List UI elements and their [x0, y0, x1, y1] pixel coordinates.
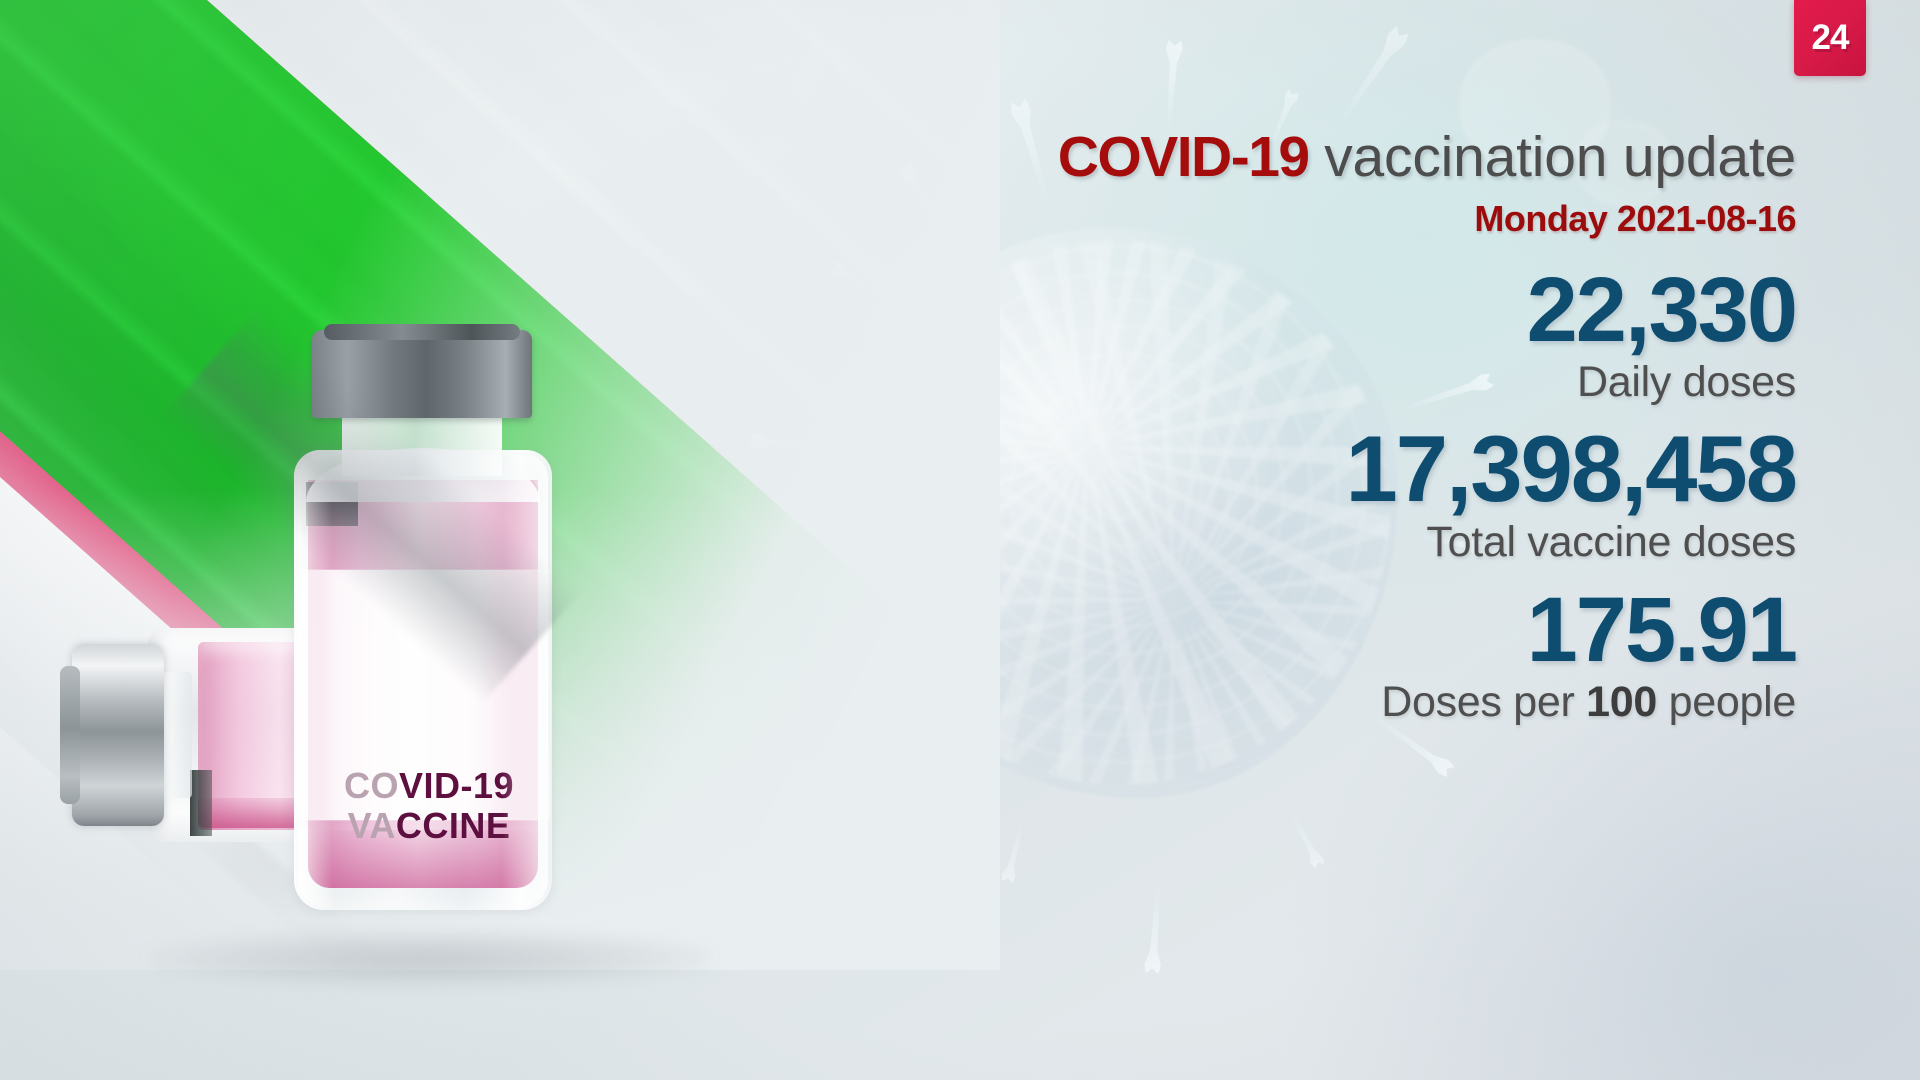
- vial-dark-band: [190, 770, 212, 836]
- vial-glass-highlight-left: [298, 454, 332, 906]
- vial-label-line2-strong: CCINE: [396, 805, 511, 846]
- vial-cap-lip: [60, 666, 80, 804]
- vial-drop-shadow: [150, 930, 710, 988]
- stats-panel: COVID-19 vaccination update Monday 2021-…: [836, 128, 1796, 726]
- vial-label-line1-strong: VID-19: [399, 765, 514, 806]
- stat-value: 22,330: [836, 264, 1796, 356]
- page-title-highlight: COVID-19: [1058, 125, 1309, 189]
- stat-value: 175.91: [836, 584, 1796, 676]
- stat-label: Daily doses: [836, 358, 1796, 406]
- vial-metal-cap: [312, 330, 532, 418]
- channel-24-logo-label: 24: [1794, 18, 1866, 58]
- channel-24-logo[interactable]: 24: [1794, 0, 1866, 76]
- vial-cap-top: [324, 324, 520, 340]
- vial-label-line2-dim: VA: [348, 805, 396, 846]
- infographic-canvas: COVID-19 VACCINE 24 COVID-19 vaccination…: [0, 0, 1920, 1080]
- stat-label-prefix: Doses per: [1381, 678, 1586, 726]
- page-title: COVID-19 vaccination update: [836, 128, 1796, 188]
- stat-doses-per-100: 175.91 Doses per 100 people: [836, 584, 1796, 726]
- report-date: Monday 2021-08-16: [836, 198, 1796, 240]
- stat-label: Doses per 100 people: [836, 678, 1796, 726]
- stat-daily-doses: 22,330 Daily doses: [836, 264, 1796, 406]
- stat-label-strong: 100: [1586, 678, 1657, 726]
- vial-metal-cap: [72, 644, 164, 826]
- vial-glass-highlight-right: [502, 454, 548, 906]
- stat-label-suffix: people: [1657, 678, 1796, 726]
- stat-value: 17,398,458: [836, 422, 1796, 516]
- page-title-rest: vaccination update: [1309, 125, 1796, 189]
- vial-label-line1-dim: CO: [344, 765, 399, 806]
- vial-neck: [342, 414, 502, 476]
- stat-total-doses: 17,398,458 Total vaccine doses: [836, 422, 1796, 566]
- vaccine-vial-standing: COVID-19 VACCINE: [290, 330, 600, 920]
- stat-label: Total vaccine doses: [836, 518, 1796, 566]
